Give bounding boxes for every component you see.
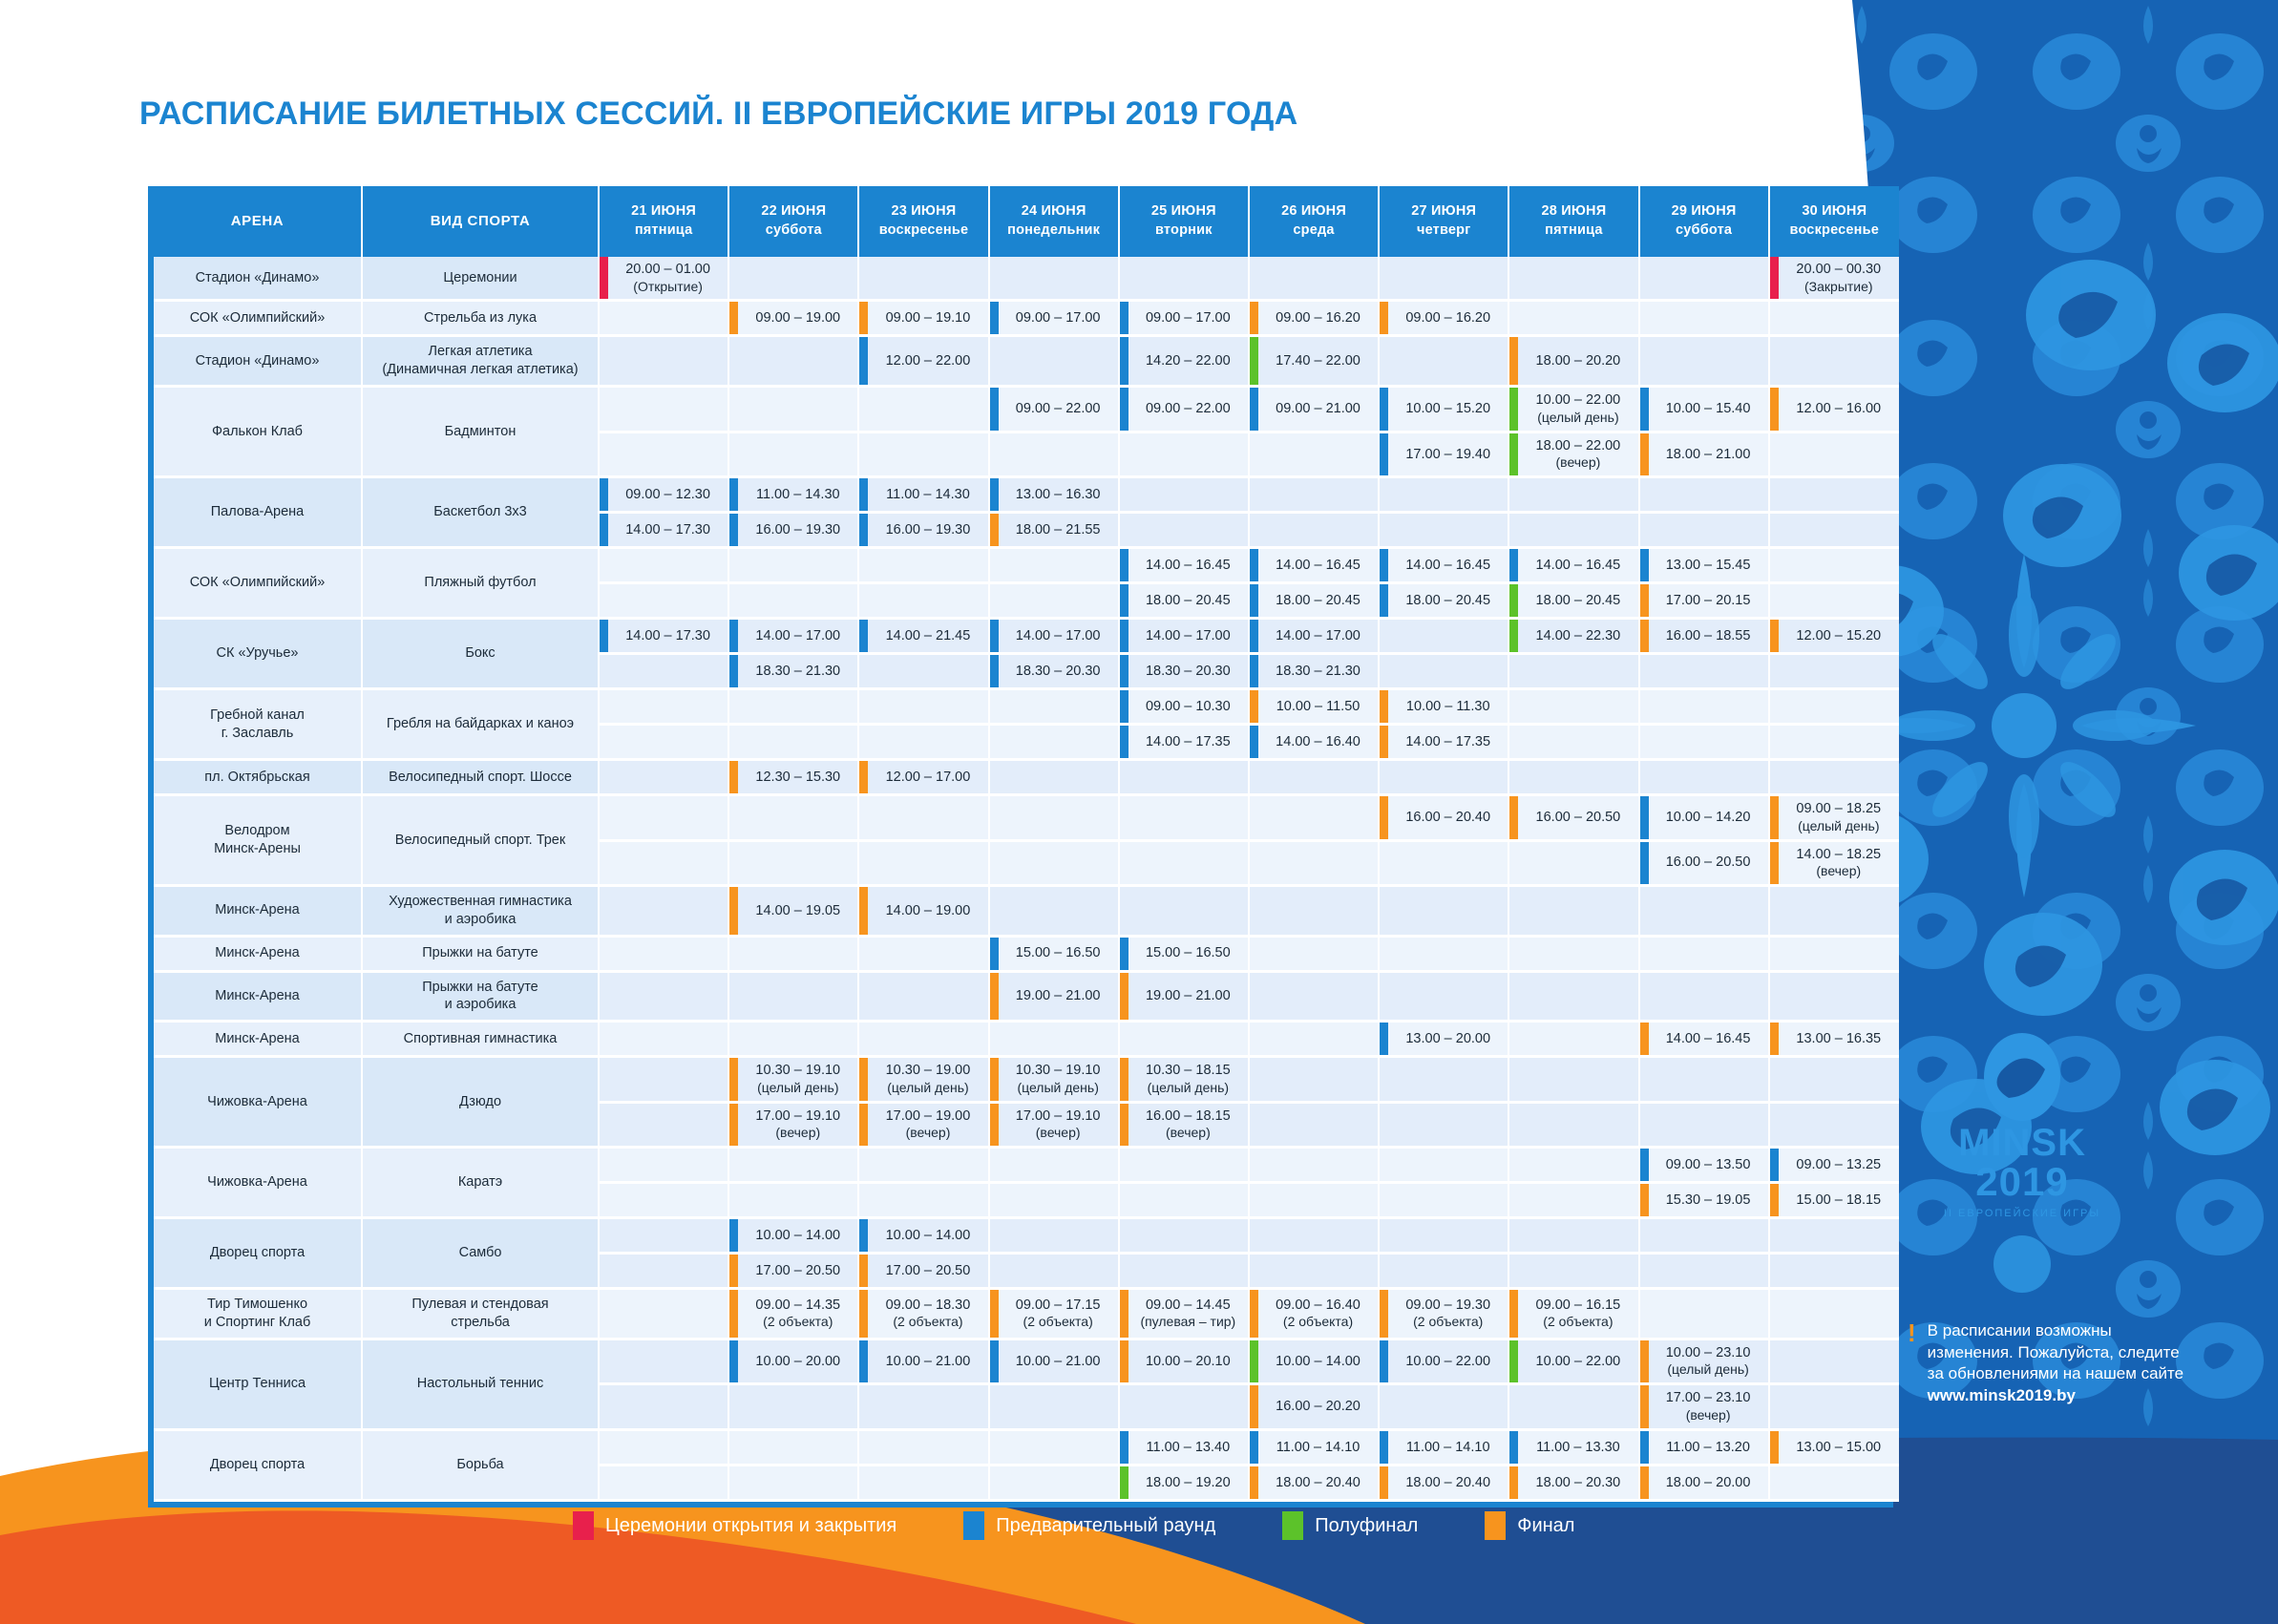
session-text: 14.00 – 17.35 [1128, 726, 1248, 758]
cell-session[interactable]: 11.00 – 13.30 [1508, 1429, 1638, 1465]
session-time: 20.00 – 00.30 [1796, 261, 1881, 279]
cell-session[interactable]: 15.00 – 16.50 [1119, 936, 1249, 971]
session-color-bar-orange [1250, 1290, 1258, 1338]
cell-session[interactable]: 20.00 – 01.00(Открытие) [599, 257, 728, 301]
cell-session[interactable]: 17.00 – 20.50 [728, 1254, 858, 1289]
session-time: 09.00 – 14.45 [1146, 1297, 1231, 1315]
cell-session[interactable]: 18.30 – 21.30 [1249, 654, 1379, 689]
cell-empty [1249, 513, 1379, 548]
cell-session[interactable]: 15.00 – 16.50 [989, 936, 1119, 971]
cell-session[interactable]: 18.00 – 20.30 [1508, 1465, 1638, 1500]
session-time: 14.00 – 17.35 [1405, 733, 1490, 751]
cell-session[interactable]: 14.00 – 16.40 [1249, 725, 1379, 760]
cell-session[interactable]: 18.30 – 21.30 [728, 654, 858, 689]
cell-empty [858, 257, 988, 301]
cell-session[interactable]: 16.00 – 20.20 [1249, 1384, 1379, 1429]
session-time: 18.00 – 20.45 [1405, 592, 1490, 610]
session-text: 17.00 – 19.10(вечер) [738, 1104, 857, 1146]
session-color-bar-orange [1640, 584, 1649, 617]
session-color-bar-blue [1120, 726, 1128, 758]
cell-session[interactable]: 18.00 – 20.40 [1379, 1465, 1508, 1500]
cell-session[interactable]: 09.00 – 14.45(пулевая – тир) [1119, 1289, 1249, 1339]
cell-session[interactable]: 17.00 – 20.15 [1639, 583, 1769, 619]
cell-session[interactable]: 10.00 – 22.00 [1508, 1339, 1638, 1383]
cell-session[interactable]: 09.00 – 13.50 [1639, 1148, 1769, 1183]
day-weekday: четверг [1382, 221, 1506, 241]
session-text: 17.00 – 20.50 [868, 1255, 987, 1287]
cell-session[interactable]: 09.00 – 13.25 [1769, 1148, 1899, 1183]
cell-session[interactable]: 09.00 – 19.00 [728, 301, 858, 336]
cell-session[interactable]: 10.00 – 14.00 [728, 1218, 858, 1254]
cell-session[interactable]: 10.30 – 19.00(целый день) [858, 1057, 988, 1102]
session-time: 17.00 – 19.00 [886, 1107, 971, 1126]
session-color-bar-orange [729, 302, 738, 334]
session-time: 10.00 – 22.00 [1405, 1353, 1490, 1371]
session-note: (2 объекта) [763, 1314, 833, 1331]
session-time: 09.00 – 16.20 [1276, 309, 1360, 327]
cell-empty [1639, 760, 1769, 795]
cell-session[interactable]: 17.00 – 19.10(вечер) [728, 1102, 858, 1147]
cell-session[interactable]: 11.00 – 14.30 [728, 477, 858, 513]
cell-empty [1119, 1022, 1249, 1057]
cell-session[interactable]: 16.00 – 20.40 [1379, 795, 1508, 840]
cell-session[interactable]: 14.00 – 18.25(вечер) [1769, 840, 1899, 885]
day-date: 29 ИЮНЯ [1642, 202, 1766, 221]
cell-empty [858, 548, 988, 583]
session-color-bar-blue [1380, 388, 1388, 430]
cell-empty [1379, 1057, 1508, 1102]
session-color-bar-blue [1250, 726, 1258, 758]
session-time: 18.00 – 20.45 [1536, 592, 1621, 610]
session-note: (вечер) [1166, 1125, 1211, 1142]
cell-empty [1508, 1218, 1638, 1254]
cell-empty [989, 885, 1119, 936]
cell-session[interactable]: 18.00 – 20.20 [1508, 336, 1638, 387]
legend-label: Церемонии открытия и закрытия [605, 1515, 896, 1537]
session-text: 18.30 – 20.30 [999, 655, 1118, 687]
cell-session[interactable]: 09.00 – 17.00 [989, 301, 1119, 336]
cell-session[interactable]: 14.00 – 17.30 [599, 513, 728, 548]
cell-session[interactable]: 11.00 – 14.30 [858, 477, 988, 513]
cell-empty [1508, 885, 1638, 936]
cell-session[interactable]: 14.00 – 17.30 [599, 619, 728, 654]
cell-session[interactable]: 17.00 – 19.40 [1379, 432, 1508, 476]
cell-session[interactable]: 18.30 – 20.30 [989, 654, 1119, 689]
cell-session[interactable]: 09.00 – 16.20 [1249, 301, 1379, 336]
cell-empty [728, 1429, 858, 1465]
session-color-bar-orange [1380, 1466, 1388, 1499]
cell-session[interactable]: 16.00 – 19.30 [858, 513, 988, 548]
cell-session[interactable]: 10.30 – 18.15(целый день) [1119, 1057, 1249, 1102]
session-note: (вечер) [775, 1125, 820, 1142]
cell-empty [599, 432, 728, 476]
session-time: 10.00 – 22.00 [1536, 1353, 1621, 1371]
cell-arena: Минск-Арена [154, 1022, 362, 1057]
session-time: 17.00 – 19.10 [1016, 1107, 1101, 1126]
cell-session[interactable]: 14.00 – 17.00 [728, 619, 858, 654]
cell-session[interactable]: 10.00 – 22.00 [1379, 1339, 1508, 1383]
cell-arena: Минск-Арена [154, 971, 362, 1022]
session-time: 18.30 – 20.30 [1016, 663, 1101, 681]
session-time: 17.00 – 19.10 [755, 1107, 840, 1126]
cell-session[interactable]: 10.00 – 20.00 [728, 1339, 858, 1383]
cell-session[interactable]: 14.20 – 22.00 [1119, 336, 1249, 387]
cell-empty [858, 583, 988, 619]
cell-session[interactable]: 18.00 – 20.45 [1508, 583, 1638, 619]
session-text: 09.00 – 22.00 [999, 388, 1118, 430]
session-color-bar-blue [990, 938, 999, 970]
cell-session[interactable]: 10.00 – 20.10 [1119, 1339, 1249, 1383]
cell-empty [1639, 477, 1769, 513]
cell-empty [599, 1465, 728, 1500]
cell-empty [1379, 971, 1508, 1022]
session-time: 11.00 – 13.30 [1536, 1439, 1620, 1457]
cell-session[interactable]: 09.00 – 17.15(2 объекта) [989, 1289, 1119, 1339]
cell-empty [1119, 840, 1249, 885]
session-color-bar-orange [729, 1058, 738, 1100]
session-text: 18.00 – 22.00(вечер) [1518, 433, 1637, 475]
session-color-bar-blue [600, 620, 608, 652]
day-weekday: вторник [1122, 221, 1246, 241]
note-line-2: изменения. Пожалуйста, следите [1928, 1342, 2183, 1363]
cell-arena: Тир Тимошенкои Спортинг Клаб [154, 1289, 362, 1339]
cell-empty [728, 432, 858, 476]
cell-empty [728, 840, 858, 885]
cell-empty [1249, 1148, 1379, 1183]
cell-session[interactable]: 14.00 – 19.00 [858, 885, 988, 936]
cell-session[interactable]: 14.00 – 17.00 [989, 619, 1119, 654]
session-time: 14.00 – 21.45 [886, 627, 971, 645]
session-time: 10.00 – 20.10 [1146, 1353, 1231, 1371]
cell-session[interactable]: 13.00 – 16.35 [1769, 1022, 1899, 1057]
day-weekday: воскресенье [1772, 221, 1897, 241]
cell-session[interactable]: 14.00 – 16.45 [1119, 548, 1249, 583]
table-row: Чижовка-АренаДзюдо10.30 – 19.10(целый де… [154, 1057, 1899, 1102]
session-text: 10.00 – 14.00 [738, 1219, 857, 1252]
session-text: 10.00 – 14.20 [1649, 796, 1768, 838]
cell-session[interactable]: 11.00 – 13.40 [1119, 1429, 1249, 1465]
session-time: 16.00 – 19.30 [755, 521, 840, 539]
session-color-bar-blue [1250, 655, 1258, 687]
cell-session[interactable]: 18.30 – 20.30 [1119, 654, 1249, 689]
legend-swatch-red [573, 1511, 594, 1540]
cell-session[interactable]: 16.00 – 20.50 [1508, 795, 1638, 840]
cell-session[interactable]: 18.00 – 20.45 [1119, 583, 1249, 619]
cell-empty [1119, 1384, 1249, 1429]
cell-session[interactable]: 09.00 – 22.00 [989, 387, 1119, 432]
session-time: 13.00 – 15.45 [1666, 557, 1751, 575]
session-time: 13.00 – 16.30 [1016, 486, 1101, 504]
cell-session[interactable]: 16.00 – 19.30 [728, 513, 858, 548]
note-line-1: В расписании возможны [1928, 1320, 2183, 1341]
cell-session[interactable]: 16.00 – 20.50 [1639, 840, 1769, 885]
cell-session[interactable]: 09.00 – 19.30(2 объекта) [1379, 1289, 1508, 1339]
session-text: 11.00 – 13.20 [1649, 1431, 1768, 1464]
cell-session[interactable]: 18.00 – 20.45 [1249, 583, 1379, 619]
schedule-table: АРЕНА ВИД СПОРТА 21 ИЮНЯпятница22 ИЮНЯсу… [154, 186, 1899, 1502]
cell-session[interactable]: 12.30 – 15.30 [728, 760, 858, 795]
cell-sport: Прыжки на батутеи аэробика [362, 971, 599, 1022]
cell-empty [1119, 432, 1249, 476]
cell-session[interactable]: 09.00 – 16.15(2 объекта) [1508, 1289, 1638, 1339]
session-time: 14.00 – 16.45 [1405, 557, 1490, 575]
session-color-bar-orange [1380, 302, 1388, 334]
session-color-bar-blue [859, 514, 868, 546]
cell-session[interactable]: 17.00 – 23.10(вечер) [1639, 1384, 1769, 1429]
cell-empty [599, 760, 728, 795]
schedule-table-container: АРЕНА ВИД СПОРТА 21 ИЮНЯпятница22 ИЮНЯсу… [148, 186, 1893, 1508]
cell-session[interactable]: 09.00 – 16.20 [1379, 301, 1508, 336]
cell-session[interactable]: 10.00 – 11.30 [1379, 689, 1508, 725]
table-row: Фалькон КлабБадминтон09.00 – 22.0009.00 … [154, 387, 1899, 432]
session-color-bar-blue [990, 1340, 999, 1382]
legend-items: Церемонии открытия и закрытияПредварител… [573, 1511, 1641, 1540]
session-color-bar-blue [729, 478, 738, 511]
cell-session[interactable]: 13.00 – 15.00 [1769, 1429, 1899, 1465]
session-time: 10.00 – 15.20 [1405, 400, 1490, 418]
cell-empty [858, 387, 988, 432]
cell-session[interactable]: 14.00 – 22.30 [1508, 619, 1638, 654]
session-color-bar-blue [1380, 584, 1388, 617]
cell-session[interactable]: 13.00 – 16.30 [989, 477, 1119, 513]
session-time: 18.00 – 22.00 [1536, 437, 1621, 455]
cell-session[interactable]: 09.00 – 19.10 [858, 301, 988, 336]
cell-arena: СК «Уручье» [154, 619, 362, 689]
cell-empty [1379, 336, 1508, 387]
column-header-day-1: 21 ИЮНЯпятница [599, 186, 728, 257]
cell-session[interactable]: 16.00 – 18.15(вечер) [1119, 1102, 1249, 1147]
session-color-bar-blue [1120, 655, 1128, 687]
session-text: 18.00 – 20.45 [1388, 584, 1508, 617]
cell-empty [728, 548, 858, 583]
session-color-bar-orange [990, 973, 999, 1021]
cell-session[interactable]: 14.00 – 16.45 [1379, 548, 1508, 583]
cell-empty [1639, 513, 1769, 548]
cell-empty [1379, 654, 1508, 689]
session-time: 14.00 – 19.00 [886, 902, 971, 920]
cell-empty [1769, 689, 1899, 725]
session-color-bar-blue [990, 620, 999, 652]
session-time: 18.00 – 20.00 [1666, 1474, 1751, 1492]
session-time: 09.00 – 14.35 [755, 1297, 840, 1315]
cell-session[interactable]: 14.00 – 17.35 [1379, 725, 1508, 760]
cell-session[interactable]: 18.00 – 22.00(вечер) [1508, 432, 1638, 476]
cell-session[interactable]: 09.00 – 21.00 [1249, 387, 1379, 432]
session-time: 17.00 – 20.50 [755, 1262, 840, 1280]
session-color-bar-orange [1380, 796, 1388, 838]
cell-empty [1508, 654, 1638, 689]
cell-session[interactable]: 14.00 – 19.05 [728, 885, 858, 936]
cell-session[interactable]: 10.00 – 22.00(целый день) [1508, 387, 1638, 432]
cell-session[interactable]: 18.00 – 20.00 [1639, 1465, 1769, 1500]
session-color-bar-blue [1120, 690, 1128, 723]
cell-session[interactable]: 17.00 – 19.00(вечер) [858, 1102, 988, 1147]
cell-session[interactable]: 14.00 – 17.35 [1119, 725, 1249, 760]
cell-session[interactable]: 18.00 – 21.55 [989, 513, 1119, 548]
cell-empty [728, 936, 858, 971]
cell-session[interactable]: 11.00 – 14.10 [1249, 1429, 1379, 1465]
session-note: (вечер) [1686, 1407, 1731, 1424]
session-color-bar-orange [729, 887, 738, 935]
table-header: АРЕНА ВИД СПОРТА 21 ИЮНЯпятница22 ИЮНЯсу… [154, 186, 1899, 257]
session-time: 09.00 – 22.00 [1146, 400, 1231, 418]
session-text: 17.00 – 19.10(вечер) [999, 1104, 1118, 1146]
cell-session[interactable]: 17.00 – 19.10(вечер) [989, 1102, 1119, 1147]
cell-session[interactable]: 10.00 – 15.20 [1379, 387, 1508, 432]
session-text: 09.00 – 13.25 [1779, 1149, 1899, 1181]
cell-session[interactable]: 12.00 – 22.00 [858, 336, 988, 387]
cell-session[interactable]: 10.30 – 19.10(целый день) [728, 1057, 858, 1102]
session-text: 14.00 – 17.35 [1388, 726, 1508, 758]
cell-empty [858, 432, 988, 476]
cell-empty [1119, 257, 1249, 301]
session-text: 14.00 – 17.00 [1258, 620, 1378, 652]
table-row: Тир Тимошенкои Спортинг КлабПулевая и ст… [154, 1289, 1899, 1339]
cell-session[interactable]: 12.00 – 16.00 [1769, 387, 1899, 432]
cell-session[interactable]: 18.00 – 20.40 [1249, 1465, 1379, 1500]
cell-empty [1769, 477, 1899, 513]
cell-session[interactable]: 09.00 – 18.30(2 объекта) [858, 1289, 988, 1339]
cell-session[interactable]: 14.00 – 17.00 [1119, 619, 1249, 654]
cell-session[interactable]: 11.00 – 13.20 [1639, 1429, 1769, 1465]
cell-session[interactable]: 09.00 – 17.00 [1119, 301, 1249, 336]
session-text: 09.00 – 17.00 [1128, 302, 1248, 334]
session-time: 15.00 – 18.15 [1796, 1192, 1881, 1210]
cell-session[interactable]: 14.00 – 16.45 [1639, 1022, 1769, 1057]
session-color-bar-orange [1770, 388, 1779, 430]
session-time: 11.00 – 14.30 [886, 486, 970, 504]
cell-session[interactable]: 18.00 – 19.20 [1119, 1465, 1249, 1500]
session-time: 10.00 – 22.00 [1536, 391, 1621, 410]
session-time: 14.00 – 16.45 [1536, 557, 1621, 575]
cell-empty [1119, 760, 1249, 795]
table-row: Центр ТеннисаНастольный теннис10.00 – 20… [154, 1339, 1899, 1383]
cell-empty [599, 1218, 728, 1254]
cell-arena: Фалькон Клаб [154, 387, 362, 477]
cell-session[interactable]: 10.00 – 14.00 [858, 1218, 988, 1254]
cell-session[interactable]: 15.30 – 19.05 [1639, 1183, 1769, 1218]
cell-empty [1508, 689, 1638, 725]
session-color-bar-orange [1250, 1385, 1258, 1427]
session-color-bar-orange [1250, 690, 1258, 723]
session-time: 14.00 – 17.00 [1016, 627, 1101, 645]
cell-empty [1508, 1254, 1638, 1289]
cell-empty [728, 689, 858, 725]
cell-empty [1249, 936, 1379, 971]
cell-session[interactable]: 09.00 – 22.00 [1119, 387, 1249, 432]
cell-empty [858, 795, 988, 840]
session-text: 13.00 – 15.45 [1649, 549, 1768, 581]
cell-empty [1639, 257, 1769, 301]
cell-session[interactable]: 12.00 – 17.00 [858, 760, 988, 795]
session-note: (вечер) [1816, 863, 1861, 880]
cell-session[interactable]: 14.00 – 16.45 [1249, 548, 1379, 583]
session-color-bar-blue [1120, 1431, 1128, 1464]
session-time: 17.00 – 19.40 [1405, 446, 1490, 464]
cell-session[interactable]: 13.00 – 15.45 [1639, 548, 1769, 583]
cell-session[interactable]: 09.00 – 18.25(целый день) [1769, 795, 1899, 840]
note-website[interactable]: www.minsk2019.by [1928, 1385, 2183, 1406]
cell-session[interactable]: 18.00 – 20.45 [1379, 583, 1508, 619]
column-header-day-6: 26 ИЮНЯсреда [1249, 186, 1379, 257]
cell-session[interactable]: 09.00 – 14.35(2 объекта) [728, 1289, 858, 1339]
cell-session[interactable]: 10.00 – 14.20 [1639, 795, 1769, 840]
cell-session[interactable]: 17.00 – 20.50 [858, 1254, 988, 1289]
session-time: 14.00 – 17.30 [625, 521, 710, 539]
session-time: 18.30 – 20.30 [1146, 663, 1231, 681]
session-time: 09.00 – 17.00 [1016, 309, 1101, 327]
cell-empty [1508, 840, 1638, 885]
cell-empty [1508, 301, 1638, 336]
cell-empty [1769, 971, 1899, 1022]
cell-session[interactable]: 10.00 – 21.00 [858, 1339, 988, 1383]
session-time: 14.00 – 17.00 [1276, 627, 1360, 645]
cell-session[interactable]: 14.00 – 17.00 [1249, 619, 1379, 654]
day-weekday: суббота [731, 221, 855, 241]
cell-session[interactable]: 19.00 – 21.00 [989, 971, 1119, 1022]
cell-empty [599, 301, 728, 336]
cell-session[interactable]: 18.00 – 21.00 [1639, 432, 1769, 476]
cell-session[interactable]: 11.00 – 14.10 [1379, 1429, 1508, 1465]
cell-sport: Пулевая и стендоваястрельба [362, 1289, 599, 1339]
table-row: Палова-АренаБаскетбол 3х309.00 – 12.3011… [154, 477, 1899, 513]
session-text: 09.00 – 14.45(пулевая – тир) [1128, 1290, 1248, 1338]
cell-empty [1769, 1102, 1899, 1147]
cell-empty [1769, 760, 1899, 795]
cell-session[interactable]: 20.00 – 00.30(Закрытие) [1769, 257, 1899, 301]
svg-text:MINSK: MINSK [1958, 1122, 2086, 1164]
cell-session[interactable]: 17.40 – 22.00 [1249, 336, 1379, 387]
cell-empty [728, 583, 858, 619]
session-note: (вечер) [1036, 1125, 1081, 1142]
cell-session[interactable]: 14.00 – 21.45 [858, 619, 988, 654]
session-text: 11.00 – 13.30 [1518, 1431, 1637, 1464]
session-time: 09.00 – 17.15 [1016, 1297, 1101, 1315]
cell-empty [989, 1384, 1119, 1429]
session-time: 12.00 – 17.00 [886, 769, 971, 787]
cell-session[interactable]: 19.00 – 21.00 [1119, 971, 1249, 1022]
cell-empty [1508, 1057, 1638, 1102]
session-text: 14.00 – 17.00 [738, 620, 857, 652]
cell-sport: Борьба [362, 1429, 599, 1500]
cell-session[interactable]: 14.00 – 16.45 [1508, 548, 1638, 583]
cell-session[interactable]: 12.00 – 15.20 [1769, 619, 1899, 654]
cell-empty [1508, 477, 1638, 513]
cell-session[interactable]: 10.00 – 14.00 [1249, 1339, 1379, 1383]
cell-session[interactable]: 09.00 – 10.30 [1119, 689, 1249, 725]
session-text: 11.00 – 14.10 [1258, 1431, 1378, 1464]
cell-session[interactable]: 10.00 – 21.00 [989, 1339, 1119, 1383]
svg-text:2019: 2019 [1975, 1159, 2068, 1204]
cell-session[interactable]: 09.00 – 16.40(2 объекта) [1249, 1289, 1379, 1339]
session-color-bar-green [1120, 1466, 1128, 1499]
cell-session[interactable]: 10.00 – 23.10(целый день) [1639, 1339, 1769, 1383]
session-time: 18.00 – 20.40 [1276, 1474, 1360, 1492]
cell-empty [1639, 1218, 1769, 1254]
session-color-bar-blue [1770, 1149, 1779, 1181]
cell-session[interactable]: 10.30 – 19.10(целый день) [989, 1057, 1119, 1102]
session-time: 15.00 – 16.50 [1016, 944, 1101, 962]
cell-session[interactable]: 15.00 – 18.15 [1769, 1183, 1899, 1218]
cell-session[interactable]: 09.00 – 12.30 [599, 477, 728, 513]
cell-session[interactable]: 10.00 – 15.40 [1639, 387, 1769, 432]
cell-session[interactable]: 10.00 – 11.50 [1249, 689, 1379, 725]
cell-session[interactable]: 13.00 – 20.00 [1379, 1022, 1508, 1057]
cell-empty [858, 936, 988, 971]
cell-session[interactable]: 16.00 – 18.55 [1639, 619, 1769, 654]
cell-empty [1508, 760, 1638, 795]
cell-sport: Церемонии [362, 257, 599, 301]
